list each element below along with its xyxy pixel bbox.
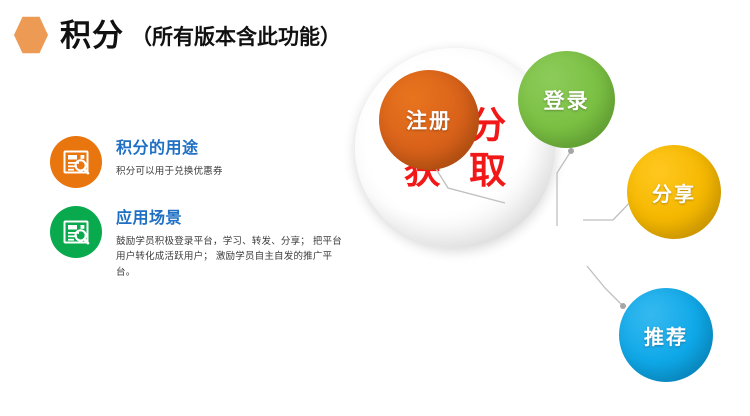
node-share[interactable]: 分享 [627,145,721,239]
document-search-icon [50,206,102,258]
feature-description: 鼓励学员积极登录平台，学习、转发、分享； 把平台用户转化成活跃用户； 激励学员自… [116,234,350,280]
node-share-label: 分享 [652,178,696,207]
feature-title: 应用场景 [116,209,350,229]
hexagon-icon [14,16,48,54]
list-item: 积分的用途 积分可以用于兑换优惠券 [50,136,350,188]
feature-text: 积分的用途 积分可以用于兑换优惠券 [116,136,223,179]
node-recommend[interactable]: 推荐 [619,288,713,382]
feature-description: 积分可以用于兑换优惠券 [116,164,223,179]
page-title: 积分 （所有版本含此功能） [14,11,341,59]
list-item: 应用场景 鼓励学员积极登录平台，学习、转发、分享； 把平台用户转化成活跃用户； … [50,206,350,280]
feature-title: 积分的用途 [116,139,223,159]
title-main: 积分 [60,20,124,51]
node-login[interactable]: 登录 [518,51,615,148]
node-login-label: 登录 [544,85,590,115]
node-recommend-label: 推荐 [644,321,688,350]
node-register[interactable]: 注册 [379,70,479,170]
document-search-icon [50,136,102,188]
feature-list: 积分的用途 积分可以用于兑换优惠券 应用场景 鼓励学员积极登录 [50,136,350,298]
node-register-label: 注册 [406,105,452,135]
slide-canvas: 积分 （所有版本含此功能） 积分的用途 积分可以用于兑换优惠券 [0,0,750,416]
title-subtitle: （所有版本含此功能） [131,27,341,48]
feature-text: 应用场景 鼓励学员积极登录平台，学习、转发、分享； 把平台用户转化成活跃用户； … [116,206,350,280]
points-diagram: 注册 登录 分享 推荐 积 分 获 取 [355,48,750,416]
